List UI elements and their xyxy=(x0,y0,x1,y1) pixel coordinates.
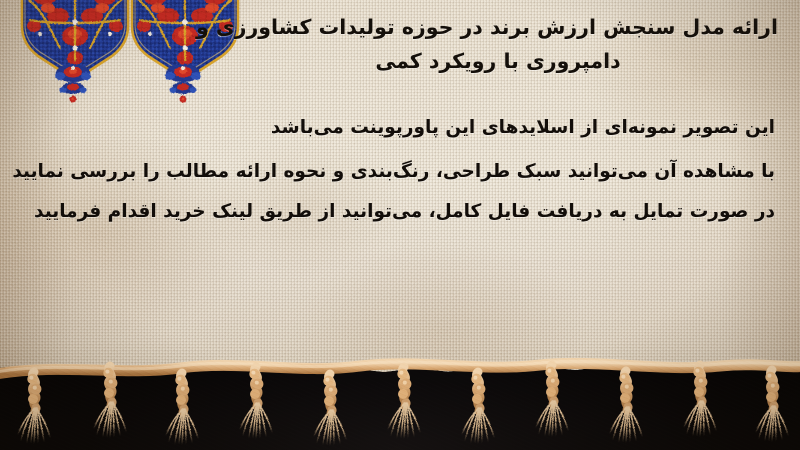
slide-canvas: ارائه مدل سنجش ارزش برند در حوزه تولیدات… xyxy=(0,0,800,450)
carpet-field xyxy=(0,0,800,378)
carpet-weave-texture xyxy=(0,0,800,378)
carpet-weave-texture-diagonal xyxy=(0,0,800,378)
